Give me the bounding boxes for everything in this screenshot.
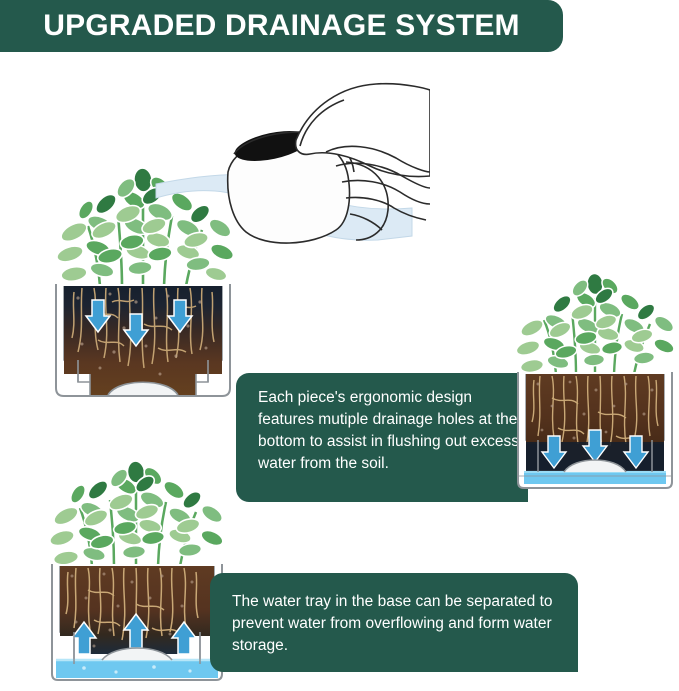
water-tray-layer [524,472,666,484]
callout-drainage-holes: Each piece's ergonomic design features m… [236,373,528,502]
callout-text: The water tray in the base can be separa… [232,593,553,654]
infographic-page: UPGRADED DRAINAGE SYSTEM [0,0,679,691]
title-banner: UPGRADED DRAINAGE SYSTEM [0,0,563,52]
planter-draining-cross-section [512,272,678,494]
callout-text: Each piece's ergonomic design features m… [258,389,519,472]
water-tray-layer [56,660,218,678]
callout-water-tray: The water tray in the base can be separa… [210,573,578,672]
hand-pouring-watering-can [150,80,430,270]
plant-foliage [48,460,225,566]
plant-foliage [515,273,677,374]
page-title: UPGRADED DRAINAGE SYSTEM [43,9,520,43]
planter-wicking-cross-section [44,458,230,686]
